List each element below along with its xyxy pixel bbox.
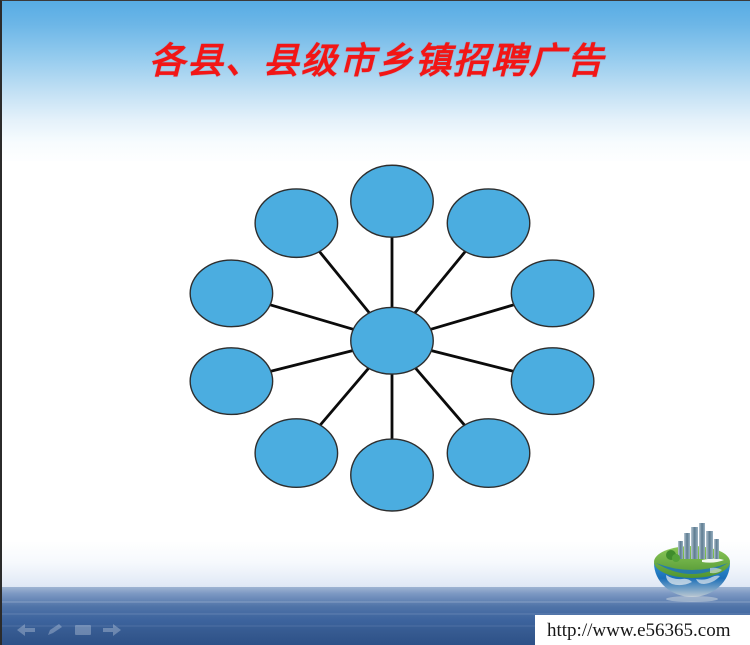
diagram-node-4-shape[interactable] bbox=[190, 348, 272, 415]
spoke-line bbox=[271, 351, 353, 372]
slide-title: 各县、县级市乡镇招聘广告 bbox=[2, 39, 750, 85]
spoke-line bbox=[270, 305, 353, 330]
watermark-url: http://www.e56365.com bbox=[535, 620, 730, 642]
diagram-node-5[interactable] bbox=[255, 419, 337, 487]
pen-tool-icon[interactable] bbox=[46, 623, 64, 637]
next-arrow-icon[interactable] bbox=[102, 623, 122, 637]
diagram-node-10-shape[interactable] bbox=[447, 189, 529, 257]
spoke-line bbox=[415, 251, 466, 313]
hub-and-spoke-diagram bbox=[177, 129, 607, 549]
slide-canvas: 各县、县级市乡镇招聘广告 bbox=[0, 0, 750, 645]
watermark-box: http://www.e56365.com bbox=[535, 615, 750, 645]
slideshow-nav-controls[interactable] bbox=[16, 623, 122, 637]
diagram-node-8[interactable] bbox=[511, 348, 593, 415]
diagram-node-7[interactable] bbox=[447, 419, 529, 487]
spoke-line bbox=[431, 305, 514, 330]
spoke-line bbox=[416, 368, 465, 425]
diagram-svg bbox=[177, 129, 607, 549]
menu-square-icon[interactable] bbox=[74, 623, 92, 637]
diagram-node-10[interactable] bbox=[447, 189, 529, 257]
diagram-node-8-shape[interactable] bbox=[511, 348, 593, 415]
diagram-node-2[interactable] bbox=[255, 189, 337, 257]
spoke-line bbox=[320, 368, 368, 425]
diagram-node-1-shape[interactable] bbox=[351, 165, 433, 237]
diagram-node-6[interactable] bbox=[351, 439, 433, 511]
globe-city-graphic bbox=[644, 515, 740, 605]
diagram-node-3-shape[interactable] bbox=[190, 260, 272, 327]
diagram-node-9[interactable] bbox=[511, 260, 593, 327]
diagram-node-2-shape[interactable] bbox=[255, 189, 337, 257]
diagram-node-3[interactable] bbox=[190, 260, 272, 327]
diagram-node-7-shape[interactable] bbox=[447, 419, 529, 487]
diagram-node-5-shape[interactable] bbox=[255, 419, 337, 487]
diagram-node-9-shape[interactable] bbox=[511, 260, 593, 327]
diagram-node-6-shape[interactable] bbox=[351, 439, 433, 511]
diagram-center-node-shape[interactable] bbox=[351, 307, 433, 374]
diagram-node-1[interactable] bbox=[351, 165, 433, 237]
diagram-node-4[interactable] bbox=[190, 348, 272, 415]
previous-arrow-icon[interactable] bbox=[16, 623, 36, 637]
spoke-line bbox=[431, 351, 513, 372]
diagram-center-node[interactable] bbox=[351, 307, 433, 374]
spoke-line bbox=[319, 252, 369, 313]
diagram-nodes bbox=[190, 165, 594, 511]
